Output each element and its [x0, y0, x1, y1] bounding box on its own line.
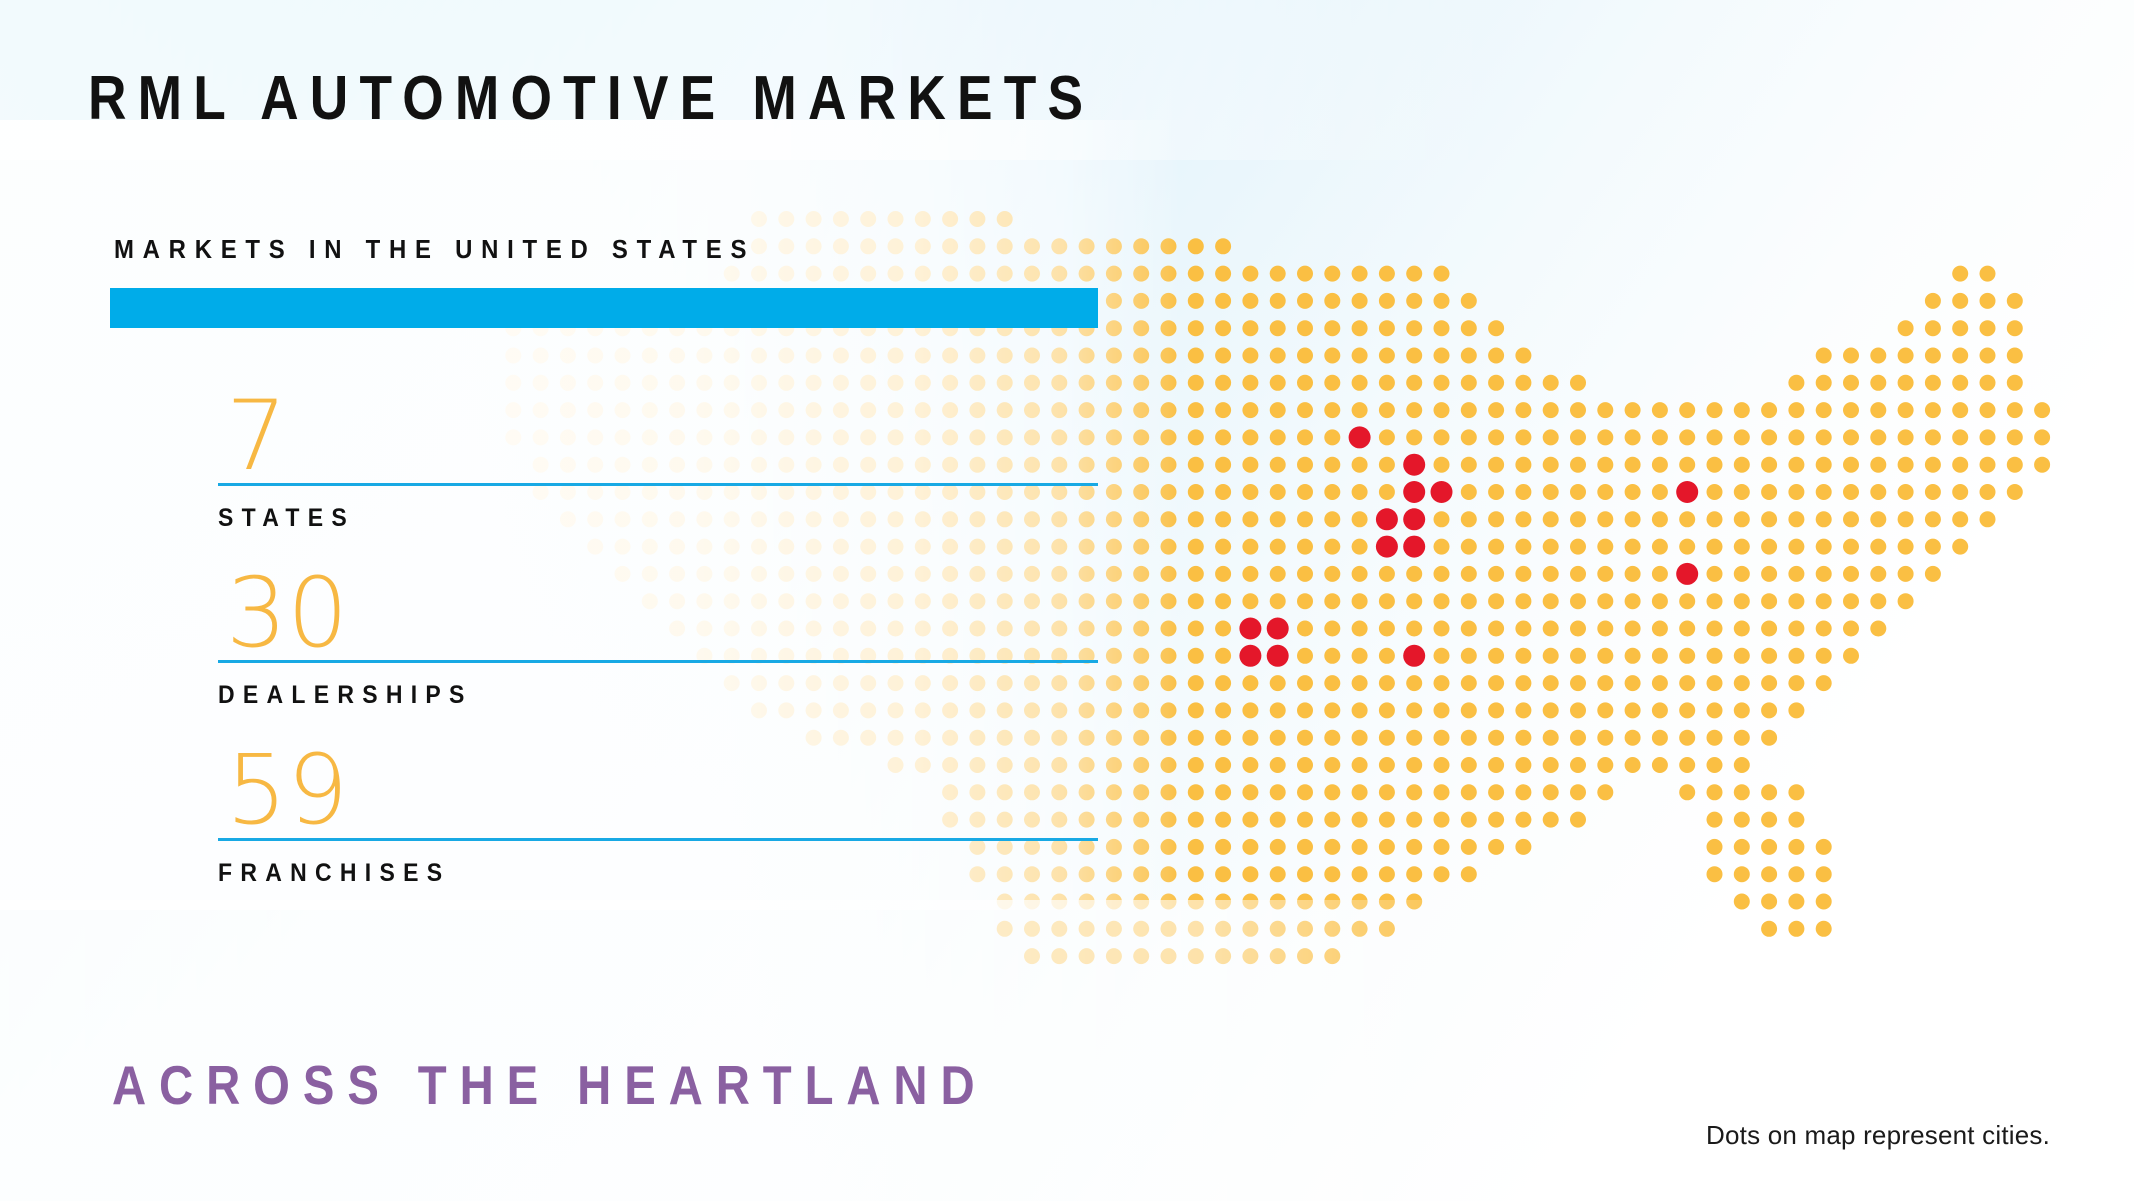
footer-headline: ACROSS THE HEARTLAND — [112, 1058, 988, 1113]
city-dot — [1349, 426, 1371, 448]
city-dot — [1239, 645, 1261, 667]
city-dot — [1267, 645, 1289, 667]
city-dot — [1676, 563, 1698, 585]
city-dot — [1403, 645, 1425, 667]
stat-value-franchises: 59 — [226, 742, 348, 838]
city-dot — [1376, 536, 1398, 558]
map-legend-caption: Dots on map represent cities. — [1706, 1120, 2050, 1151]
city-dot — [1239, 618, 1261, 640]
markets-accent-bar — [110, 288, 1098, 328]
city-dot — [1403, 508, 1425, 530]
stat-divider-dealerships — [218, 660, 1098, 663]
city-dot — [1403, 481, 1425, 503]
city-dot — [1376, 508, 1398, 530]
stat-value-states: 7 — [226, 388, 287, 484]
city-dot — [1676, 481, 1698, 503]
city-dot — [1403, 536, 1425, 558]
stat-divider-franchises — [218, 838, 1098, 841]
stat-divider-states — [218, 483, 1098, 486]
city-dot — [1267, 618, 1289, 640]
stats-panel: MARKETS IN THE UNITED STATES 7 STATES 30… — [0, 0, 1180, 1201]
stat-label-dealerships: DEALERSHIPS — [218, 683, 473, 708]
markets-subtitle: MARKETS IN THE UNITED STATES — [114, 236, 755, 262]
city-dot — [1403, 454, 1425, 476]
stat-label-franchises: FRANCHISES — [218, 861, 450, 886]
city-dot — [1431, 481, 1453, 503]
infographic-canvas: RML AUTOMOTIVE MARKETS MARKETS IN THE UN… — [0, 0, 2134, 1201]
stat-label-states: STATES — [218, 506, 355, 531]
stat-value-dealerships: 30 — [226, 565, 348, 661]
